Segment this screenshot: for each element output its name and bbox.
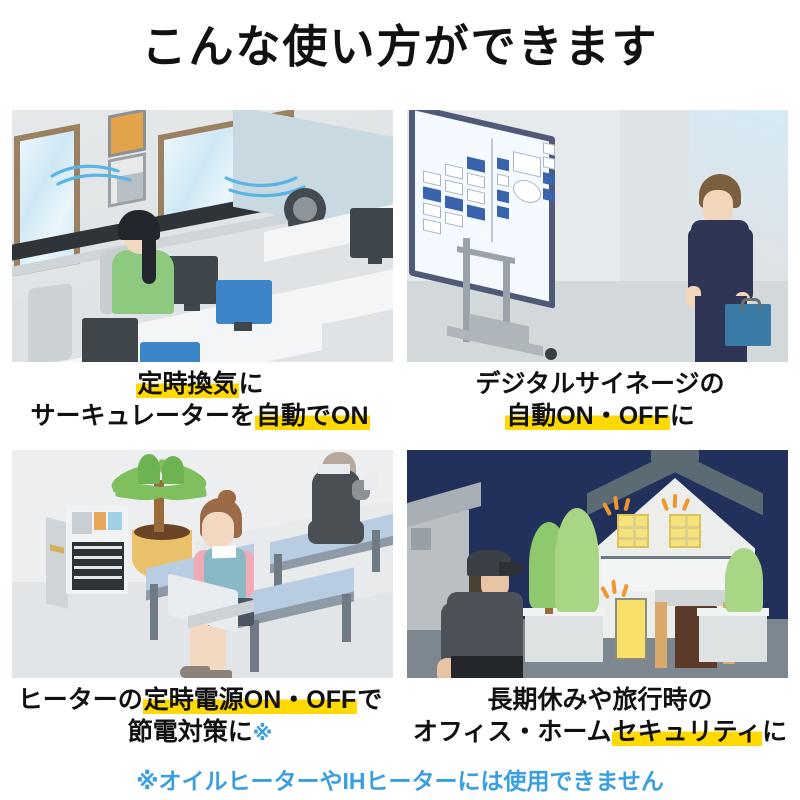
illustration-office-circulator (12, 110, 393, 362)
caption-digital-signage: デジタルサイネージの 自動ON・OFFに (400, 368, 800, 432)
caption-line-2: オフィス・ホームセキュリティに (400, 716, 800, 748)
caption-line-1: 長期休みや旅行時の (400, 684, 800, 716)
caption-highlight: 自動ON・OFF (505, 402, 670, 430)
caption-heater-power-saving: ヒーターの定時電源ON・OFFで 節電対策に※ (0, 684, 400, 748)
airflow-lines-left (48, 162, 168, 188)
caption-highlight: 定時電源ON・OFF (143, 686, 358, 714)
caption-highlight: セキュリティ (612, 718, 763, 746)
signage-screen (409, 110, 555, 309)
caption-text: 長期休みや旅行時の (487, 686, 712, 714)
caption-text: 節電対策に (128, 718, 253, 746)
caption-text: オフィス・ホーム (413, 718, 612, 746)
porch-post-left (655, 602, 667, 668)
fence-wall-right (699, 612, 767, 662)
wall-picture-orange (108, 110, 146, 158)
caption-line-1: 定時換気に (0, 368, 400, 400)
illustration-waiting-room (12, 450, 393, 678)
caption-text: に (762, 718, 787, 746)
chair-left (28, 283, 72, 362)
card-office-home-security (407, 450, 788, 678)
footnote-mark: ※ (253, 723, 272, 745)
caption-line-1: ヒーターの定時電源ON・OFFで (0, 684, 400, 716)
card-office-circulator (12, 110, 393, 362)
caption-line-2: サーキュレーターを自動でON (0, 400, 400, 432)
page-root: こんな使い方ができます (0, 0, 800, 800)
card-heater-power-saving (12, 450, 393, 678)
caption-text: に (670, 402, 695, 430)
caption-text: デジタルサイネージの (475, 370, 724, 398)
cap-brim (499, 562, 523, 575)
caption-line-1: デジタルサイネージの (400, 368, 800, 400)
caster-wheel (545, 348, 557, 360)
illustration-night-house (407, 450, 788, 678)
caption-highlight: 定時換気 (136, 370, 238, 398)
illustration-digital-signage (407, 110, 788, 362)
caption-line-2: 節電対策に※ (0, 716, 400, 748)
footnote-text: ※オイルヒーターやIHヒーターには使用できません (0, 762, 800, 796)
fence-wall-left (525, 612, 603, 662)
caption-text: で (357, 686, 382, 714)
window-upper-left (617, 514, 649, 548)
caption-line-2: 自動ON・OFFに (400, 400, 800, 432)
caption-text: に (239, 370, 264, 398)
card-digital-signage (407, 110, 788, 362)
caption-office-circulator: 定時換気に サーキュレーターを自動でON (0, 368, 400, 432)
caption-highlight: 自動でON (255, 402, 370, 430)
caption-text: ヒーターの (18, 686, 143, 714)
caption-text: サーキュレーターを (30, 402, 255, 430)
window-lower (615, 598, 647, 660)
window-upper-right (669, 514, 701, 548)
caption-office-home-security: 長期休みや旅行時の オフィス・ホームセキュリティに (400, 684, 800, 748)
page-title: こんな使い方ができます (0, 24, 800, 69)
